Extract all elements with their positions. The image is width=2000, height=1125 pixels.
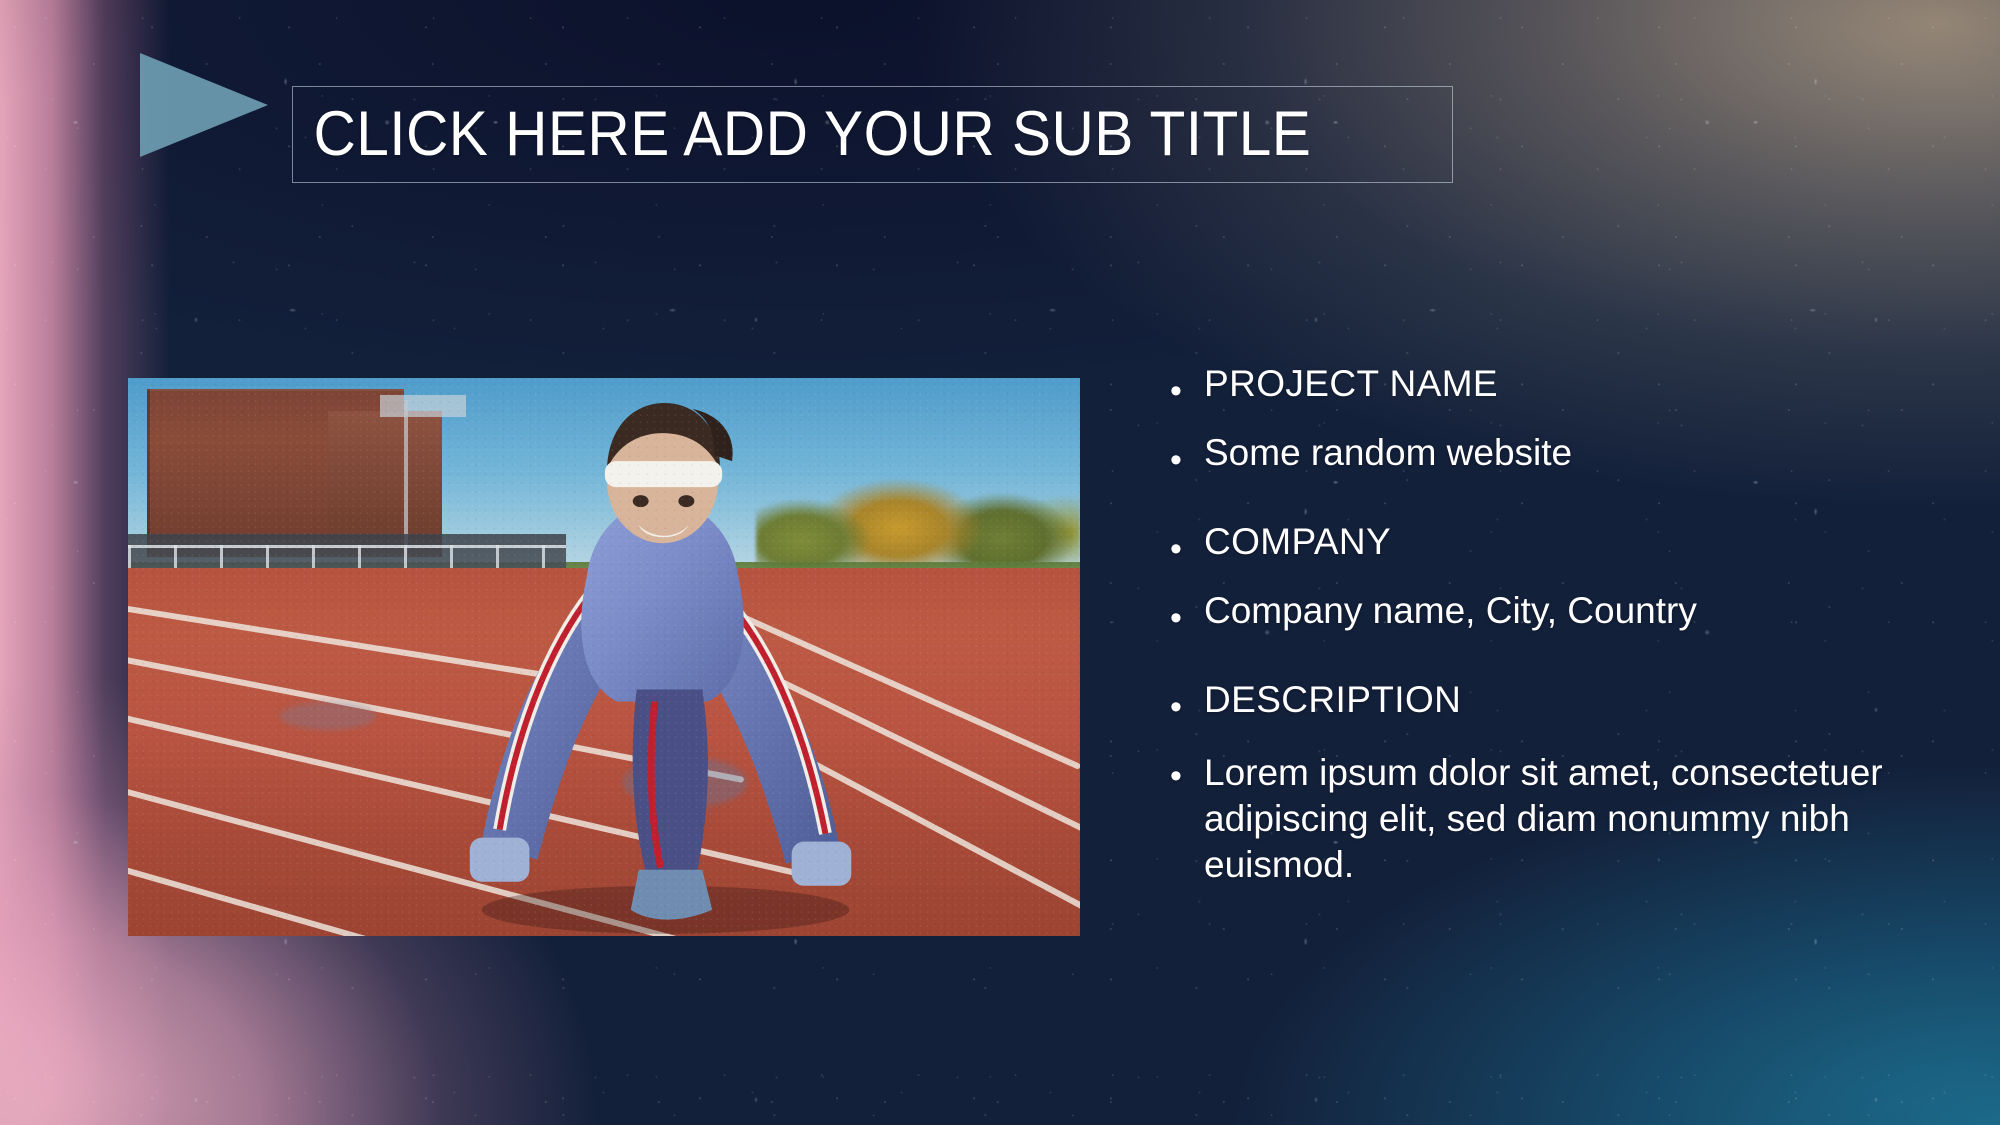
list-item-label: PROJECT NAME — [1204, 365, 1890, 403]
slide-subtitle-box[interactable]: CLICK HERE ADD YOUR SUB TITLE — [292, 86, 1453, 183]
spacer — [1170, 477, 1890, 523]
list-item-label: DESCRIPTION — [1204, 681, 1890, 719]
spacer — [1170, 408, 1890, 434]
photo-grain-texture — [128, 378, 1080, 936]
list-item-label: Company name, City, Country — [1204, 592, 1890, 630]
presentation-slide: CLICK HERE ADD YOUR SUB TITLE — [0, 0, 2000, 1125]
bullet-marker-icon: • — [1170, 365, 1204, 408]
spacer — [1170, 635, 1890, 681]
play-triangle-icon — [140, 53, 268, 157]
bullet-marker-icon: • — [1170, 523, 1204, 566]
list-item[interactable]: • Lorem ipsum dolor sit amet, consectetu… — [1170, 750, 1890, 888]
slide-subtitle-text: CLICK HERE ADD YOUR SUB TITLE — [293, 103, 1311, 166]
list-item-label: Lorem ipsum dolor sit amet, consectetuer… — [1204, 750, 1890, 888]
list-item-label: COMPANY — [1204, 523, 1890, 561]
list-item[interactable]: • COMPANY — [1170, 523, 1890, 566]
slide-photo[interactable] — [128, 378, 1080, 936]
list-item-label: Some random website — [1204, 434, 1890, 472]
list-item[interactable]: • DESCRIPTION — [1170, 681, 1890, 724]
bullet-marker-icon: • — [1170, 681, 1204, 724]
list-item[interactable]: • PROJECT NAME — [1170, 365, 1890, 408]
bullet-marker-icon: • — [1170, 592, 1204, 635]
bullet-marker-icon: • — [1170, 434, 1204, 477]
list-item[interactable]: • Company name, City, Country — [1170, 592, 1890, 635]
bullet-marker-icon: • — [1170, 750, 1204, 793]
photo-artwork — [128, 378, 1080, 936]
slide-body-content: • PROJECT NAME • Some random website • C… — [1170, 365, 1890, 888]
spacer — [1170, 724, 1890, 750]
list-item[interactable]: • Some random website — [1170, 434, 1890, 477]
spacer — [1170, 566, 1890, 592]
